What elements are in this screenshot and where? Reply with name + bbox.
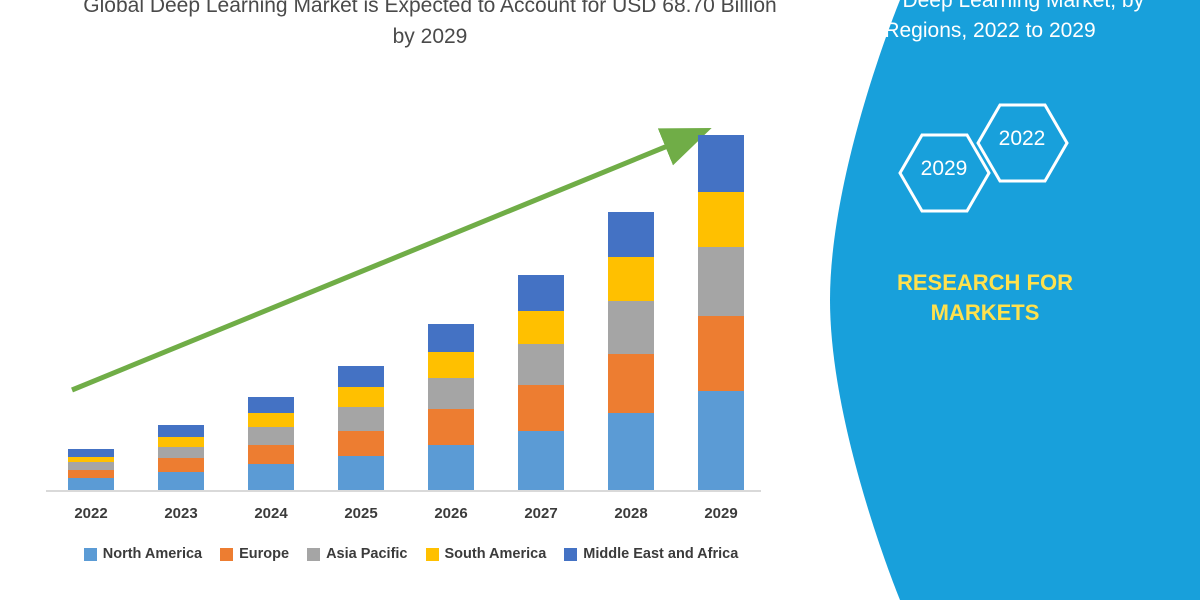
bar-segment	[698, 316, 744, 391]
bar-segment	[68, 462, 114, 470]
hexagon-graphic: 2029 2022	[870, 95, 1150, 220]
bar-segment	[248, 397, 294, 413]
legend-swatch	[426, 548, 439, 561]
chart-plot-area: Global Deep Learning Market is Expected …	[0, 0, 800, 600]
bar-segment	[608, 212, 654, 257]
legend-label: South America	[445, 546, 547, 562]
legend-item[interactable]: Middle East and Africa	[564, 546, 738, 562]
x-tick-2023: 2023	[136, 505, 226, 522]
x-axis-line	[46, 490, 761, 492]
bar-segment	[698, 247, 744, 316]
chart-title: Global Deep Learning Market is Expected …	[80, 0, 780, 52]
bar-segment	[698, 391, 744, 490]
bar-segment	[518, 311, 564, 345]
legend-swatch	[307, 548, 320, 561]
bar-segment	[158, 472, 204, 490]
bar-segment	[158, 437, 204, 447]
bar-segment	[608, 413, 654, 490]
bar-segment	[428, 409, 474, 445]
hex-label-2022: 2022	[992, 127, 1052, 151]
legend-swatch	[220, 548, 233, 561]
x-tick-2024: 2024	[226, 505, 316, 522]
bar-2024	[248, 397, 294, 490]
bar-segment	[518, 431, 564, 490]
bar-segment	[248, 464, 294, 490]
legend-label: Middle East and Africa	[583, 546, 738, 562]
bar-segment	[608, 257, 654, 300]
bar-2022	[68, 449, 114, 490]
bar-segment	[428, 378, 474, 410]
bar-segment	[518, 275, 564, 311]
legend-label: North America	[103, 546, 202, 562]
chart-legend: North AmericaEuropeAsia PacificSouth Ame…	[46, 546, 776, 562]
bar-segment	[518, 385, 564, 430]
bar-segment	[698, 192, 744, 247]
legend-label: Asia Pacific	[326, 546, 407, 562]
bar-2027	[518, 275, 564, 490]
x-tick-2025: 2025	[316, 505, 406, 522]
bar-segment	[518, 344, 564, 385]
bar-segment	[248, 427, 294, 445]
brand-panel: Global Deep Learning Market, by Regions,…	[770, 0, 1200, 600]
legend-item[interactable]: South America	[426, 546, 547, 562]
bar-segment	[248, 413, 294, 427]
brand-line-2: MARKETS	[810, 298, 1160, 328]
x-tick-2027: 2027	[496, 505, 586, 522]
bar-2026	[428, 324, 474, 490]
legend-label: Europe	[239, 546, 289, 562]
bar-segment	[68, 478, 114, 490]
x-tick-2026: 2026	[406, 505, 496, 522]
bar-segment	[338, 456, 384, 490]
bar-segment	[428, 324, 474, 352]
brand-text: RESEARCH FOR MARKETS	[810, 268, 1160, 328]
x-tick-2029: 2029	[676, 505, 766, 522]
bar-segment	[608, 301, 654, 354]
bar-segment	[68, 470, 114, 478]
bar-2029	[698, 135, 744, 490]
bar-segment	[338, 387, 384, 407]
bar-segment	[158, 458, 204, 472]
x-tick-2028: 2028	[586, 505, 676, 522]
bar-segment	[338, 431, 384, 457]
bar-2028	[608, 212, 654, 490]
bar-2025	[338, 366, 384, 490]
legend-swatch	[84, 548, 97, 561]
legend-swatch	[564, 548, 577, 561]
bar-segment	[698, 135, 744, 192]
legend-item[interactable]: Europe	[220, 546, 289, 562]
bar-segment	[158, 447, 204, 459]
bar-segment	[428, 352, 474, 378]
brand-line-1: RESEARCH FOR	[810, 268, 1160, 298]
bar-segment	[608, 354, 654, 413]
bar-segment	[158, 425, 204, 437]
legend-item[interactable]: North America	[84, 546, 202, 562]
bar-segment	[428, 445, 474, 490]
bar-segment	[248, 445, 294, 465]
legend-item[interactable]: Asia Pacific	[307, 546, 407, 562]
bar-segment	[68, 449, 114, 457]
bar-segment	[338, 407, 384, 431]
x-tick-2022: 2022	[46, 505, 136, 522]
bar-segment	[338, 366, 384, 388]
hex-label-2029: 2029	[914, 157, 974, 181]
bar-2023	[158, 425, 204, 490]
panel-title: Global Deep Learning Market, by Regions,…	[820, 0, 1160, 46]
